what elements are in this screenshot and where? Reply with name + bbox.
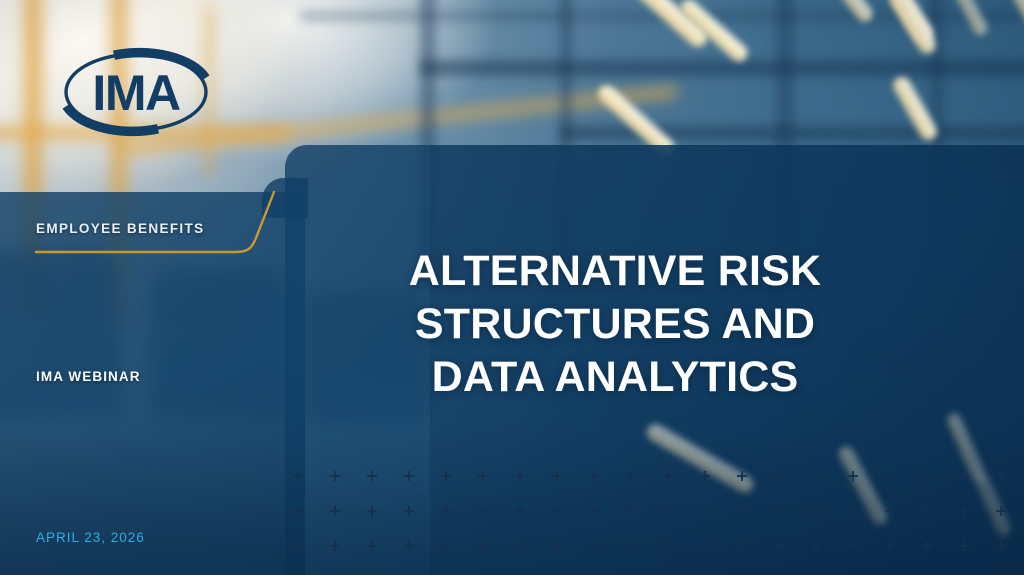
title-line-3: DATA ANALYTICS (330, 351, 900, 404)
ima-wordmark: IMA (92, 65, 180, 121)
ima-logo-icon: IMA (50, 42, 222, 142)
webinar-title-slide: IMA EMPLOYEE BENEFITS ALTERNATIVE RISK S… (0, 0, 1024, 575)
page-title: ALTERNATIVE RISK STRUCTURES AND DATA ANA… (330, 245, 900, 404)
title-line-1: ALTERNATIVE RISK (330, 245, 900, 298)
series-label: IMA WEBINAR (36, 369, 141, 384)
ceiling-beam (560, 126, 1024, 140)
date-label: APRIL 23, 2026 (36, 530, 145, 545)
title-line-2: STRUCTURES AND (330, 298, 900, 351)
ceiling-beam (420, 60, 1024, 76)
gold-curved-rule-icon (30, 190, 280, 260)
